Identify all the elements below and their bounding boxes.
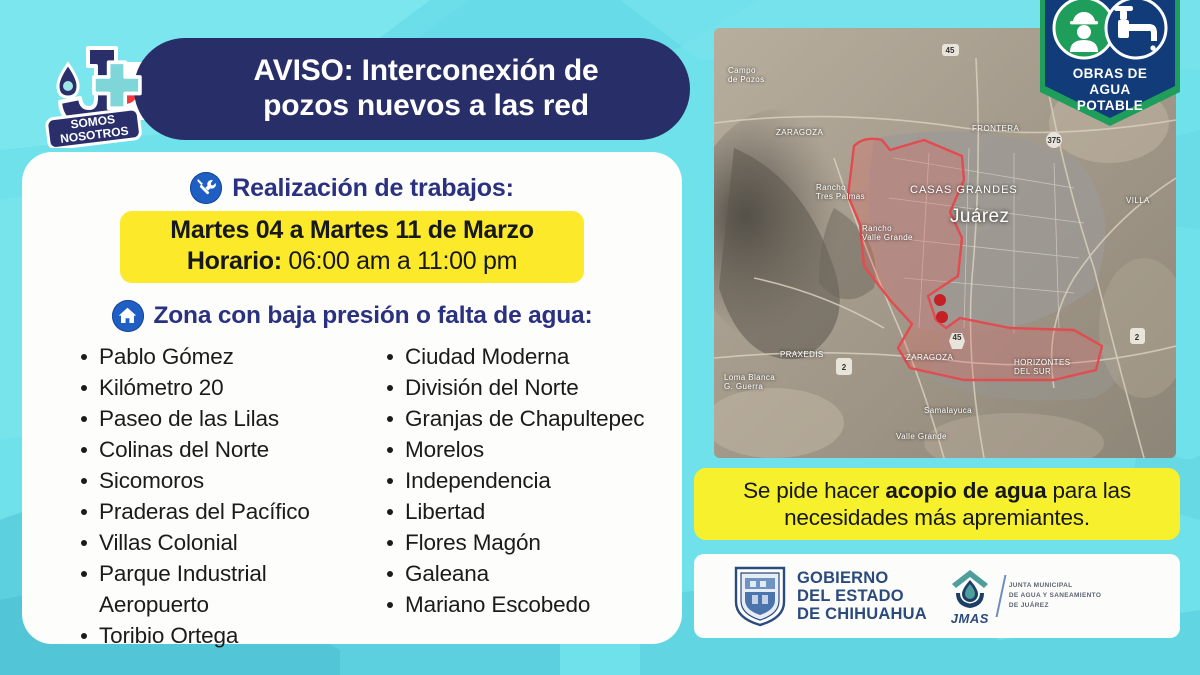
house-icon: [112, 300, 144, 332]
colony-lists: Pablo Gómez Kilómetro 20 Paseo de las Li…: [44, 341, 660, 651]
divider: [995, 575, 1006, 617]
list-item: Paseo de las Lilas: [78, 403, 354, 434]
list-item: Toribio Ortega: [78, 620, 354, 651]
schedule-highlight: Martes 04 a Martes 11 de Marzo Horario: …: [120, 211, 584, 283]
notice-text: Se pide hacer acopio de agua para las ne…: [708, 477, 1166, 532]
list-item: Granjas de Chapultepec: [384, 403, 660, 434]
schedule-time-label: Horario:: [187, 247, 282, 275]
list-item: Parque Industrial Aeropuerto: [78, 558, 354, 620]
svg-text:45: 45: [953, 333, 962, 342]
zone-heading: Zona con baja presión o falta de agua:: [154, 302, 593, 330]
well-marker: [936, 311, 948, 323]
tools-icon: [190, 172, 222, 204]
svg-text:2: 2: [842, 363, 847, 372]
schedule-time-row: Horario: 06:00 am a 11:00 pm: [132, 246, 572, 276]
jmas-subtitle: JUNTA MUNICIPAL DE AGUA Y SANEAMIENTO DE…: [1009, 581, 1101, 610]
badge-text: OBRAS DE AGUA POTABLE: [1032, 66, 1188, 114]
schedule-heading-row: Realización de trabajos:: [44, 172, 660, 204]
schedule-time-value: 06:00 am a 11:00 pm: [288, 247, 517, 275]
jmas-logo: JMAS JUNTA MUNICIPAL DE AGUA Y SANEAMIEN…: [947, 567, 1101, 626]
svg-text:375: 375: [1047, 136, 1061, 145]
colony-column-right: Ciudad Moderna División del Norte Granja…: [384, 341, 660, 651]
svg-text:45: 45: [946, 46, 955, 55]
obras-de-agua-potable-badge: OBRAS DE AGUA POTABLE: [1032, 0, 1188, 136]
list-item: Mariano Escobedo: [384, 589, 660, 620]
list-item: Galeana: [384, 558, 660, 589]
somos-nosotros-logo-svg: SOMOS NOSOTROS: [32, 40, 152, 148]
gobierno-del-estado-de-chihuahua-logo: GOBIERNO DEL ESTADO DE CHIHUAHUA: [732, 564, 927, 628]
title-banner: AVISO: Interconexión de pozos nuevos a l…: [134, 38, 690, 140]
well-marker: [934, 294, 946, 306]
list-item: Pablo Gómez: [78, 341, 354, 372]
water-storage-notice: Se pide hacer acopio de agua para las ne…: [694, 468, 1180, 540]
info-card: Realización de trabajos: Martes 04 a Mar…: [22, 152, 682, 644]
notice-emphasis: acopio de agua: [885, 478, 1046, 503]
svg-text:2: 2: [1135, 333, 1140, 342]
list-item: Independencia: [384, 465, 660, 496]
somos-nosotros-logo: SOMOS NOSOTROS: [32, 40, 152, 148]
page-title: AVISO: Interconexión de pozos nuevos a l…: [254, 54, 599, 124]
list-item: Sicomoros: [78, 465, 354, 496]
list-item: Praderas del Pacífico: [78, 496, 354, 527]
list-item: Ciudad Moderna: [384, 341, 660, 372]
list-item: Kilómetro 20: [78, 372, 354, 403]
zone-heading-row: Zona con baja presión o falta de agua:: [44, 300, 660, 332]
schedule-dates: Martes 04 a Martes 11 de Marzo: [132, 216, 572, 246]
jmas-wordmark: JMAS: [951, 611, 989, 626]
gobierno-text: GOBIERNO DEL ESTADO DE CHIHUAHUA: [797, 569, 927, 623]
list-item: División del Norte: [384, 372, 660, 403]
list-item: Flores Magón: [384, 527, 660, 558]
jmas-droplet-icon: [947, 567, 993, 611]
footer-logos: GOBIERNO DEL ESTADO DE CHIHUAHUA JMAS JU…: [694, 554, 1180, 638]
notice-prefix: Se pide hacer: [743, 478, 885, 503]
schedule-heading: Realización de trabajos:: [232, 174, 513, 203]
chihuahua-coat-of-arms-icon: [732, 564, 788, 628]
list-item: Morelos: [384, 434, 660, 465]
colony-column-left: Pablo Gómez Kilómetro 20 Paseo de las Li…: [78, 341, 354, 651]
list-item: Villas Colonial: [78, 527, 354, 558]
jmas-mark: JMAS: [947, 567, 993, 626]
list-item: Colinas del Norte: [78, 434, 354, 465]
poster-canvas: AVISO: Interconexión de pozos nuevos a l…: [0, 0, 1200, 675]
list-item: Libertad: [384, 496, 660, 527]
